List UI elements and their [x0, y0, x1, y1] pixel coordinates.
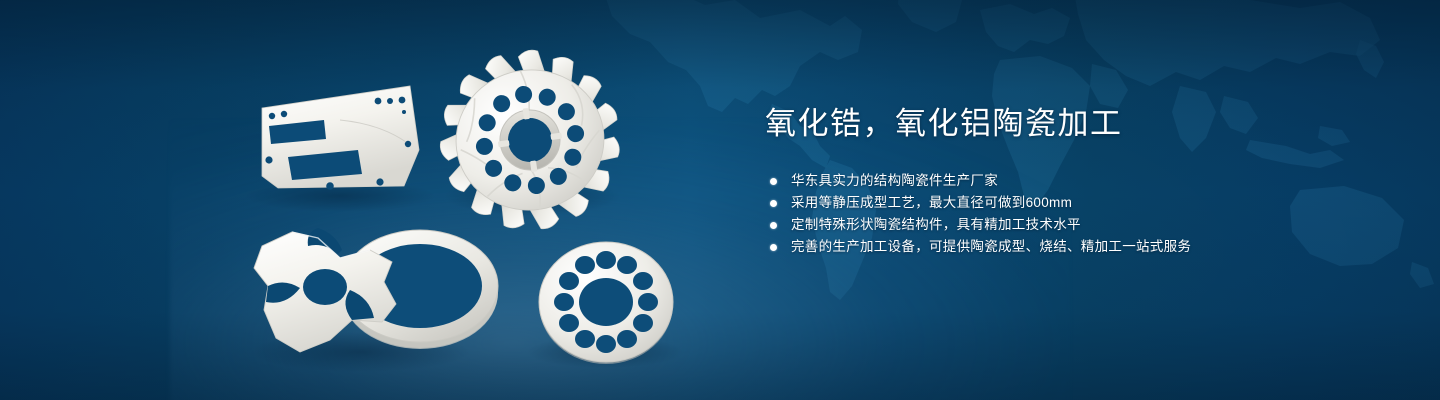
- bullet-dot-icon: [770, 244, 777, 251]
- page-title: 氧化锆，氧化铝陶瓷加工: [765, 104, 1405, 144]
- hero-banner: 氧化锆，氧化铝陶瓷加工 华东具实力的结构陶瓷件生产厂家 采用等静压成型工艺，最大…: [0, 0, 1440, 400]
- list-item-label: 定制特殊形状陶瓷结构件，具有精加工技术水平: [791, 217, 1081, 232]
- list-item-label: 采用等静压成型工艺，最大直径可做到600mm: [791, 195, 1072, 210]
- list-item-label: 完善的生产加工设备，可提供陶瓷成型、烧结、精加工一站式服务: [791, 239, 1191, 254]
- bullet-dot-icon: [770, 178, 777, 185]
- list-item: 定制特殊形状陶瓷结构件，具有精加工技术水平: [769, 214, 1405, 236]
- bullet-dot-icon: [770, 200, 777, 207]
- bullet-dot-icon: [770, 222, 777, 229]
- ceramic-plate: [262, 86, 419, 190]
- ceramic-hole-disc: [539, 242, 673, 364]
- list-item: 完善的生产加工设备，可提供陶瓷成型、烧结、精加工一站式服务: [769, 236, 1405, 258]
- banner-text-column: 氧化锆，氧化铝陶瓷加工 华东具实力的结构陶瓷件生产厂家 采用等静压成型工艺，最大…: [765, 104, 1405, 258]
- product-image-group: [0, 0, 740, 400]
- list-item: 华东具实力的结构陶瓷件生产厂家: [769, 170, 1405, 192]
- list-item: 采用等静压成型工艺，最大直径可做到600mm: [769, 192, 1405, 214]
- feature-list: 华东具实力的结构陶瓷件生产厂家 采用等静压成型工艺，最大直径可做到600mm 定…: [769, 170, 1405, 258]
- list-item-label: 华东具实力的结构陶瓷件生产厂家: [791, 173, 998, 188]
